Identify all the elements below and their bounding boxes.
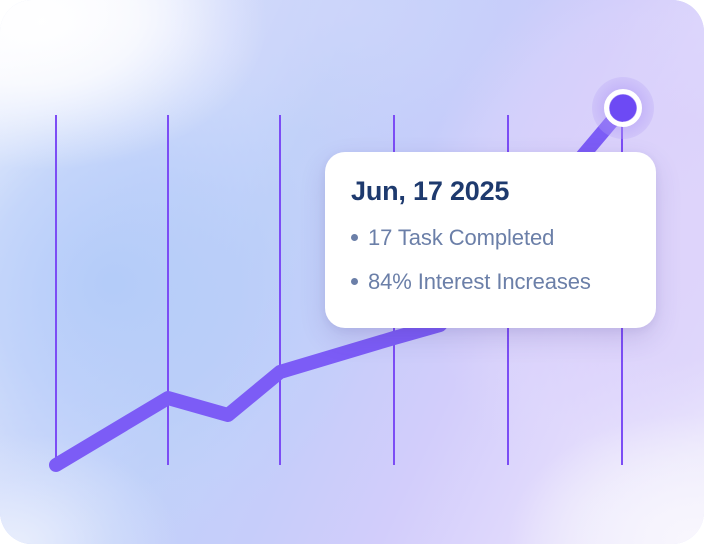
tooltip-date-title: Jun, 17 2025 — [351, 178, 630, 205]
data-point-marker[interactable] — [592, 77, 654, 139]
marker-dot-icon — [610, 95, 637, 122]
bullet-icon — [351, 234, 358, 241]
tooltip-stat-item: 17 Task Completed — [351, 227, 630, 249]
tooltip-stat-item: 84% Interest Increases — [351, 271, 630, 293]
chart-card: Jun, 17 2025 17 Task Completed 84% Inter… — [0, 0, 704, 544]
tooltip-stat-list: 17 Task Completed 84% Interest Increases — [351, 227, 630, 293]
bullet-icon — [351, 278, 358, 285]
tooltip-card[interactable]: Jun, 17 2025 17 Task Completed 84% Inter… — [325, 152, 656, 328]
tooltip-stat-text: 17 Task Completed — [368, 225, 554, 250]
tooltip-stat-text: 84% Interest Increases — [368, 269, 591, 294]
